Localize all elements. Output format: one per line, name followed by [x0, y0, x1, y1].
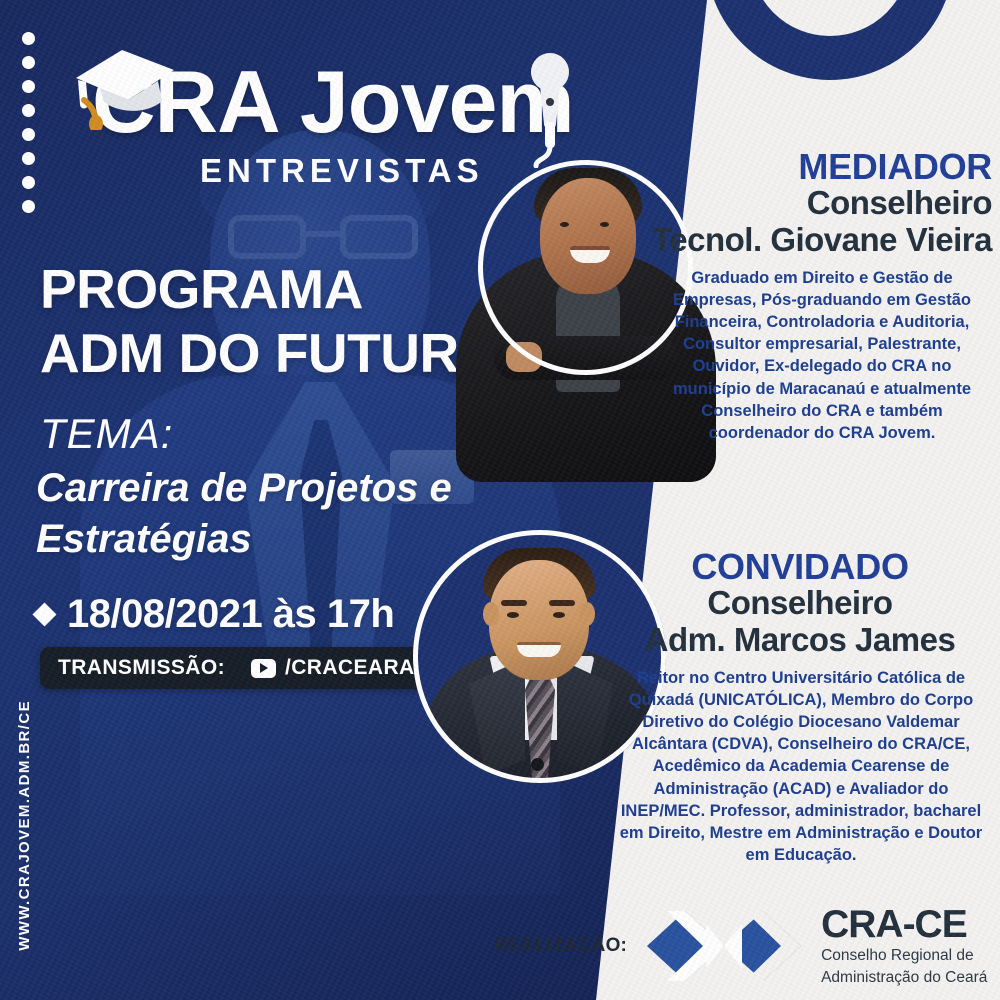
footer-realization: REALIZAÇÃO: CRA-CE Conselho Regional de … [494, 905, 987, 987]
program-title: PROGRAMA ADM DO FUTURO [40, 258, 501, 386]
mediator-name-line1: Conselheiro [630, 185, 992, 221]
mediator-role: MEDIADOR [630, 148, 992, 185]
cra-fullname-line1: Conselho Regional de [821, 947, 987, 966]
glasses-icon [228, 215, 418, 259]
tema-label: TEMA: [40, 410, 173, 458]
cra-fullname-line2: Administração do Ceará [821, 969, 987, 988]
transmission-label: TRANSMISSÃO: [58, 656, 225, 680]
guest-name-line2: Adm. Marcos James [600, 622, 992, 658]
event-date: 18/08/2021 às 17h [67, 592, 394, 637]
mediator-description: Graduado em Direito e Gestão de Empresas… [630, 267, 992, 444]
guest-description: Reitor no Centro Universitário Católica … [600, 667, 992, 866]
mediator-bio-block: MEDIADOR Conselheiro Tecnol. Giovane Vie… [630, 148, 992, 444]
dot [22, 32, 35, 45]
decorative-dot-column [22, 32, 35, 224]
mediator-name-line2: Tecnol. Giovane Vieira [630, 222, 992, 258]
youtube-handle: /CRACEARA [285, 656, 415, 680]
graduation-cap-icon [70, 44, 180, 130]
youtube-icon [251, 659, 276, 678]
event-date-row: 18/08/2021 às 17h [36, 592, 394, 637]
poster-canvas: CRA Jovem ENTREVISTAS PROGRAMA ADM DO FU… [0, 0, 1000, 1000]
dot [22, 80, 35, 93]
program-title-line1: PROGRAMA [40, 258, 501, 322]
dot [22, 128, 35, 141]
diamond-bullet-icon [32, 602, 56, 626]
dot [22, 104, 35, 117]
guest-role: CONVIDADO [600, 548, 992, 585]
guest-name-line1: Conselheiro [600, 585, 992, 621]
website-url[interactable]: WWW.CRAJOVEM.ADM.BR/CE [16, 700, 33, 951]
dot [22, 56, 35, 69]
cra-acronym: CRA-CE [821, 905, 987, 944]
dot [22, 200, 35, 213]
program-title-line2: ADM DO FUTURO [40, 322, 501, 386]
tema-value: Carreira de Projetos e Estratégias [36, 463, 476, 565]
guest-bio-block: CONVIDADO Conselheiro Adm. Marcos James … [600, 548, 992, 866]
realization-label: REALIZAÇÃO: [494, 935, 627, 957]
cra-chevron-logo-icon [645, 909, 803, 983]
dot [22, 176, 35, 189]
youtube-channel[interactable]: /CRACEARA [251, 656, 415, 680]
dot [22, 152, 35, 165]
decorative-ring-arc [706, 0, 954, 80]
microphone-icon [516, 50, 578, 168]
transmission-bar[interactable]: TRANSMISSÃO: /CRACEARA [40, 647, 433, 689]
cra-logo-text: CRA-CE Conselho Regional de Administraçã… [821, 905, 987, 987]
